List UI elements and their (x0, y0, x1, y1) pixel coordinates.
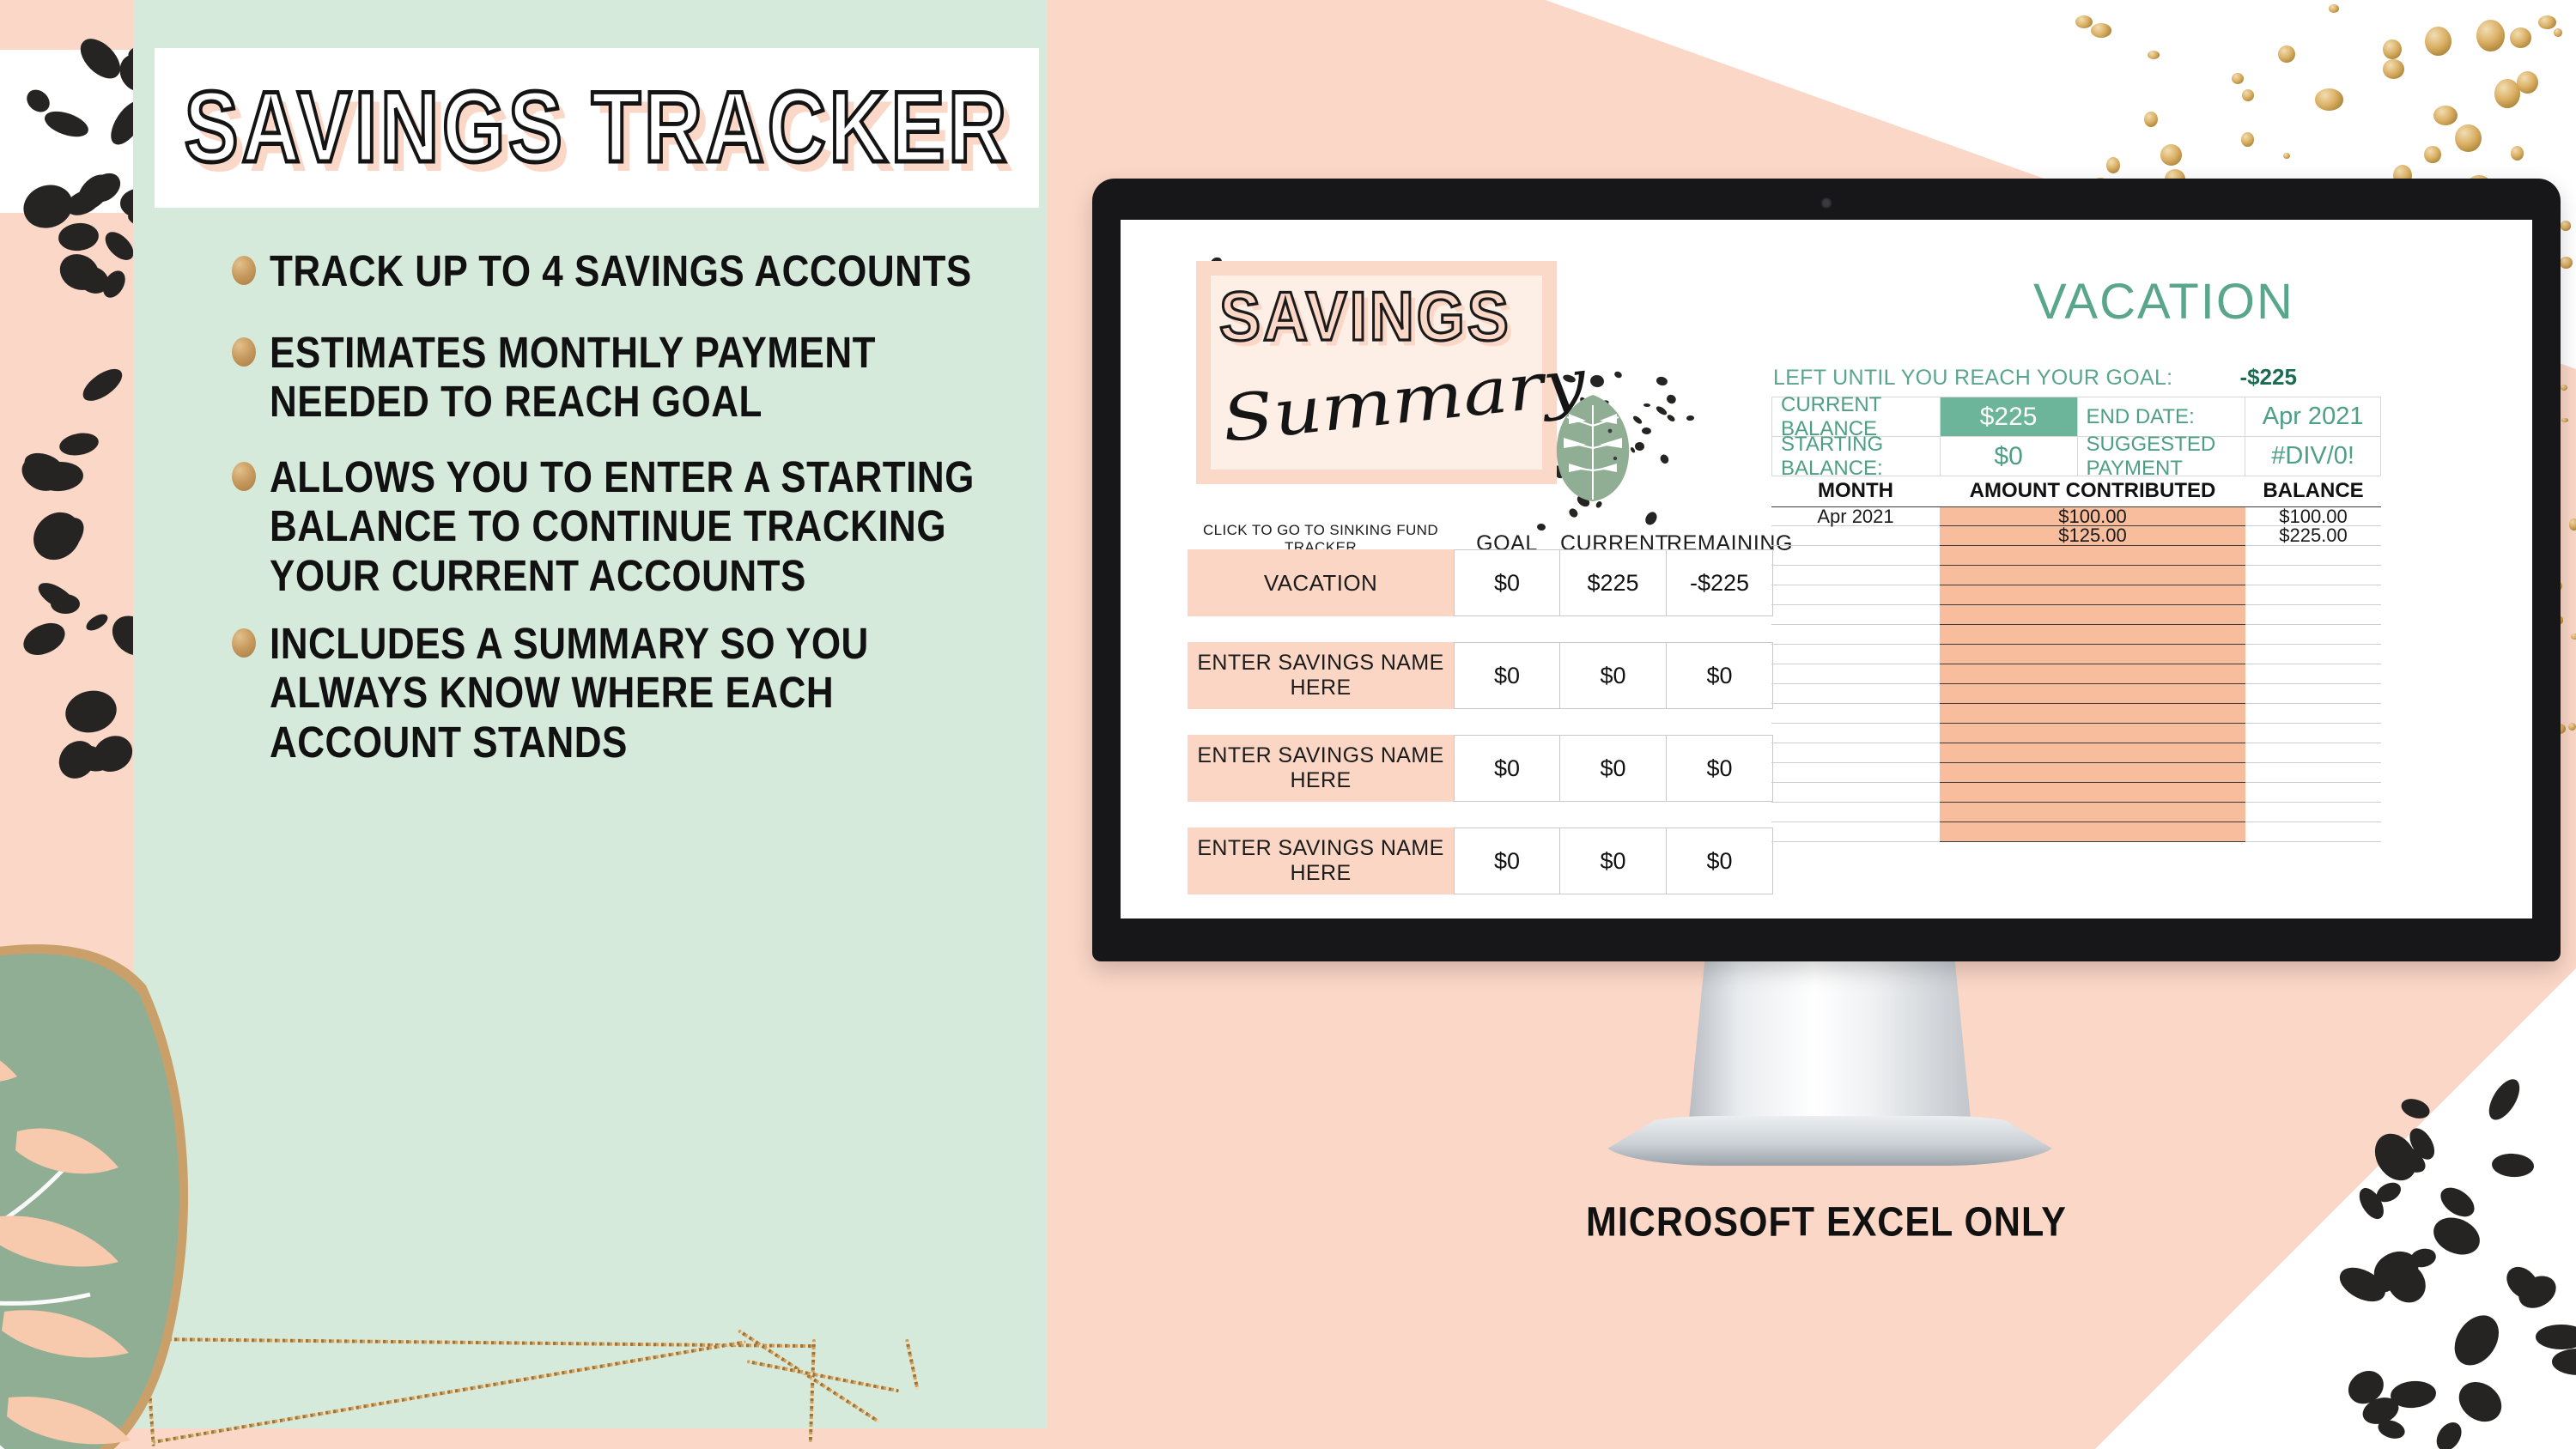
decorative-dot (1656, 376, 1668, 387)
monitor-frame: SAVINGS Summary (1092, 179, 2561, 961)
list-item-label: INCLUDES A SUMMARY SO YOU ALWAYS KNOW WH… (270, 620, 1030, 767)
column-header-month: MONTH (1771, 479, 1940, 503)
decorative-dot (51, 594, 80, 614)
decorative-dot (74, 32, 128, 86)
column-header-balance: BALANCE (2245, 479, 2381, 503)
spreadsheet: SAVINGS Summary (1121, 220, 2532, 919)
cell-balance (2245, 822, 2381, 842)
savings-account-name[interactable]: ENTER SAVINGS NAME HERE (1188, 828, 1454, 894)
decorative-dot (100, 227, 138, 266)
cell-goal[interactable]: $0 (1454, 642, 1560, 709)
cell-month[interactable] (1771, 704, 1940, 724)
cell-balance (2245, 546, 2381, 566)
gold-geometric-line (738, 1329, 880, 1423)
gold-glitter-speck (2476, 20, 2505, 52)
gold-glitter-speck (2561, 418, 2568, 423)
gold-glitter-speck (2278, 45, 2295, 63)
cell-month[interactable] (1771, 625, 1940, 645)
cell-month[interactable] (1771, 645, 1940, 664)
gold-glitter-speck (2569, 518, 2576, 530)
monitor-stand-base (1602, 1116, 2057, 1166)
cell-amount-contributed[interactable] (1940, 803, 2245, 822)
table-row[interactable]: VACATION $0 $225 -$225 (1188, 549, 1780, 616)
dot-pattern-top-left (0, 0, 150, 773)
suggested-payment-value: #DIV/0! (2245, 437, 2381, 476)
gold-glitter-speck (2568, 723, 2576, 731)
starting-balance-label: STARTING BALANCE: (1772, 437, 1941, 476)
table-row: STARTING BALANCE: $0 SUGGESTED PAYMENT #… (1772, 437, 2381, 476)
cell-month[interactable] (1771, 546, 1940, 566)
cell-remaining[interactable]: $0 (1667, 828, 1773, 894)
decorative-dot (1666, 414, 1676, 423)
list-item-label: ESTIMATES MONTHLY PAYMENT NEEDED TO REAC… (270, 329, 1030, 427)
monitor-screen: SAVINGS Summary (1121, 220, 2532, 919)
cell-current[interactable]: $0 (1560, 642, 1667, 709)
goal-remaining-label: LEFT UNTIL YOU REACH YOUR GOAL: (1773, 366, 2172, 391)
gold-glitter-speck (2510, 27, 2531, 48)
savings-account-name[interactable]: VACATION (1188, 549, 1454, 616)
table-row[interactable] (1771, 704, 2381, 724)
suggested-payment-label: SUGGESTED PAYMENT (2078, 437, 2246, 476)
gold-glitter-speck (2329, 4, 2339, 13)
cell-balance (2245, 605, 2381, 625)
gold-glitter-speck (2232, 73, 2244, 84)
end-date-label: END DATE: (2078, 397, 2246, 437)
cell-month[interactable] (1771, 743, 1940, 763)
decorative-dot (2390, 1379, 2437, 1409)
gold-glitter-speck (2554, 28, 2562, 37)
cell-balance (2245, 684, 2381, 704)
table-row[interactable]: ENTER SAVINGS NAME HERE $0 $0 $0 (1188, 828, 1780, 894)
cell-balance (2245, 625, 2381, 645)
table-row: CURRENT BALANCE $225 END DATE: Apr 2021 (1772, 397, 2381, 437)
platform-note: MICROSOFT EXCEL ONLY (1092, 1199, 2561, 1246)
gold-glitter-speck (2433, 106, 2458, 125)
table-row[interactable] (1771, 803, 2381, 822)
decorative-dot (1643, 403, 1649, 408)
goal-remaining-row: LEFT UNTIL YOU REACH YOUR GOAL: -$225 (1773, 364, 2374, 391)
cell-balance (2245, 704, 2381, 724)
gold-glitter-speck (2571, 634, 2576, 640)
gold-geometric-lines (146, 1284, 902, 1439)
savings-account-name[interactable]: ENTER SAVINGS NAME HERE (1188, 642, 1454, 709)
cell-month[interactable] (1771, 605, 1940, 625)
cell-amount-contributed[interactable] (1940, 783, 2245, 803)
gold-glitter-speck (2283, 153, 2290, 159)
monstera-leaf-large (0, 934, 258, 1449)
cell-amount-contributed[interactable] (1940, 645, 2245, 664)
cell-month[interactable]: Apr 2021 (1771, 506, 1940, 526)
gold-geometric-line (809, 1339, 816, 1442)
cell-current[interactable]: $225 (1560, 549, 1667, 616)
gold-glitter-speck (2106, 157, 2120, 173)
table-row[interactable] (1771, 664, 2381, 684)
cell-balance (2245, 645, 2381, 664)
cell-current[interactable]: $0 (1560, 828, 1667, 894)
decorative-dot (1686, 415, 1695, 420)
cell-balance (2245, 664, 2381, 684)
cell-balance (2245, 743, 2381, 763)
cell-balance (2245, 724, 2381, 743)
monstera-leaf-small-icon (1548, 391, 1638, 503)
decorative-dot (84, 610, 111, 634)
cell-amount-contributed[interactable] (1940, 605, 2245, 625)
cell-amount-contributed[interactable] (1940, 684, 2245, 704)
cell-goal[interactable]: $0 (1454, 549, 1560, 616)
starting-balance-value[interactable]: $0 (1941, 437, 2078, 476)
slide-canvas: SAVINGS TRACKER TRACK UP TO 4 SAVINGS AC… (0, 0, 2576, 1449)
gold-glitter-speck (2091, 23, 2111, 38)
gold-glitter-speck (2148, 51, 2160, 59)
goal-remaining-value: -$225 (2239, 364, 2297, 391)
table-row[interactable] (1771, 645, 2381, 664)
table-row[interactable] (1771, 763, 2381, 783)
vacation-panel-title: VACATION (1898, 273, 2430, 330)
list-item-label: TRACK UP TO 4 SAVINGS ACCOUNTS (270, 247, 972, 296)
gold-glitter-speck (2561, 221, 2572, 230)
gold-glitter-speck (2075, 15, 2093, 28)
list-item-label: ALLOWS YOU TO ENTER A STARTING BALANCE T… (270, 453, 1030, 600)
current-balance-value[interactable]: $225 (1941, 397, 2078, 437)
decorative-dot (1642, 427, 1651, 433)
end-date-value[interactable]: Apr 2021 (2245, 397, 2381, 437)
vacation-summary-grid: CURRENT BALANCE $225 END DATE: Apr 2021 … (1771, 397, 2381, 476)
decorative-dot (1665, 393, 1677, 405)
gold-glitter-speck (2425, 27, 2451, 56)
current-balance-label: CURRENT BALANCE (1772, 397, 1941, 437)
list-item: ESTIMATES MONTHLY PAYMENT NEEDED TO REAC… (232, 329, 1030, 414)
decorative-dot (77, 363, 127, 407)
list-item: TRACK UP TO 4 SAVINGS ACCOUNTS (232, 247, 1030, 289)
decorative-dot (2491, 1153, 2534, 1179)
table-row[interactable] (1771, 743, 2381, 763)
table-row[interactable] (1771, 822, 2381, 842)
decorative-dot (2398, 1095, 2432, 1122)
webcam-icon (1821, 197, 1832, 209)
column-header-amount-contributed: AMOUNT CONTRIBUTED (1940, 479, 2245, 503)
decorative-dot (2552, 1349, 2576, 1376)
gold-glitter-speck (2455, 124, 2481, 152)
cell-amount-contributed[interactable] (1940, 743, 2245, 763)
cell-month[interactable] (1771, 763, 1940, 783)
cell-month[interactable] (1771, 684, 1940, 704)
cell-balance (2245, 783, 2381, 803)
cell-month[interactable] (1771, 566, 1940, 585)
cell-goal[interactable]: $0 (1454, 735, 1560, 802)
dot-pattern-bottom-right (2301, 1088, 2576, 1449)
gold-glitter-speck (2561, 385, 2567, 391)
cell-amount-contributed[interactable]: $125.00 (1940, 526, 2245, 546)
cell-balance (2245, 585, 2381, 605)
cell-month[interactable] (1771, 526, 1940, 546)
table-row[interactable] (1771, 605, 2381, 625)
cell-amount-contributed[interactable]: $100.00 (1940, 506, 2245, 526)
table-row[interactable] (1771, 566, 2381, 585)
feature-bullet-list: TRACK UP TO 4 SAVINGS ACCOUNTS ESTIMATES… (232, 247, 1030, 785)
page-title: SAVINGS TRACKER (184, 70, 1009, 185)
gold-glitter-speck (2424, 146, 2441, 164)
cell-month[interactable] (1771, 724, 1940, 743)
decorative-dot (1613, 370, 1623, 379)
cell-goal[interactable]: $0 (1454, 828, 1560, 894)
table-row[interactable]: Apr 2021$100.00$100.00 (1771, 506, 2381, 526)
table-row[interactable] (1771, 546, 2381, 566)
cell-amount-contributed[interactable] (1940, 625, 2245, 645)
gold-bullet-icon (232, 337, 256, 367)
cell-remaining[interactable]: -$225 (1667, 549, 1773, 616)
cell-amount-contributed[interactable] (1940, 724, 2245, 743)
list-item: ALLOWS YOU TO ENTER A STARTING BALANCE T… (232, 453, 1030, 580)
decorative-dot (2451, 1373, 2509, 1429)
gold-glitter-speck (2560, 257, 2573, 269)
gold-bullet-icon (232, 462, 256, 491)
decorative-dot (2445, 1307, 2507, 1373)
cell-balance: $225.00 (2245, 526, 2381, 546)
table-row[interactable] (1771, 684, 2381, 704)
title-card: SAVINGS TRACKER (155, 48, 1039, 208)
gold-glitter-speck (2383, 59, 2404, 79)
logo-word-savings: SAVINGS (1219, 277, 1511, 356)
cell-remaining[interactable]: $0 (1667, 642, 1773, 709)
cell-month[interactable] (1771, 585, 1940, 605)
cell-amount-contributed[interactable] (1940, 704, 2245, 724)
gold-bullet-icon (232, 256, 256, 285)
cell-amount-contributed[interactable] (1940, 763, 2245, 783)
gold-glitter-speck (2538, 15, 2556, 29)
gold-glitter-speck (2511, 146, 2524, 161)
contributions-table-body: Apr 2021$100.00$100.00$125.00$225.00 (1771, 506, 2381, 842)
cell-balance (2245, 763, 2381, 783)
table-row[interactable] (1771, 625, 2381, 645)
table-row[interactable]: ENTER SAVINGS NAME HERE $0 $0 $0 (1188, 642, 1780, 709)
table-row[interactable]: $125.00$225.00 (1771, 526, 2381, 546)
cell-month[interactable] (1771, 803, 1940, 822)
cell-remaining[interactable]: $0 (1667, 735, 1773, 802)
decorative-dot (61, 686, 120, 737)
cell-amount-contributed[interactable] (1940, 585, 2245, 605)
gold-glitter-speck (2517, 71, 2538, 94)
decorative-dot (58, 430, 100, 458)
cell-balance (2245, 566, 2381, 585)
decorative-dot (18, 617, 70, 662)
table-row[interactable] (1771, 585, 2381, 605)
decorative-dot (1589, 374, 1605, 389)
cell-amount-contributed[interactable] (1940, 664, 2245, 684)
contributions-table-header: MONTH AMOUNT CONTRIBUTED BALANCE (1771, 479, 2381, 503)
decorative-dot (2432, 1417, 2467, 1449)
table-row[interactable]: ENTER SAVINGS NAME HERE $0 $0 $0 (1188, 735, 1780, 802)
cell-month[interactable] (1771, 822, 1940, 842)
decorative-dot (58, 221, 100, 252)
table-row[interactable] (1771, 783, 2381, 803)
cell-current[interactable]: $0 (1560, 735, 1667, 802)
cell-amount-contributed[interactable] (1940, 566, 2245, 585)
cell-amount-contributed[interactable] (1940, 822, 2245, 842)
gold-glitter-speck (2160, 144, 2182, 166)
gold-glitter-speck (2242, 89, 2254, 101)
list-item: INCLUDES A SUMMARY SO YOU ALWAYS KNOW WH… (232, 620, 1030, 747)
cell-month[interactable] (1771, 783, 1940, 803)
decorative-dot (2536, 1325, 2576, 1349)
decorative-dot (1658, 453, 1669, 465)
gold-bullet-icon (232, 628, 256, 658)
gold-glitter-speck (2144, 112, 2158, 127)
gold-glitter-top-right (2061, 0, 2576, 197)
cell-balance (2245, 803, 2381, 822)
decorative-dot (41, 106, 91, 141)
savings-account-name[interactable]: ENTER SAVINGS NAME HERE (1188, 735, 1454, 802)
gold-glitter-speck (2241, 132, 2254, 147)
cell-balance: $100.00 (2245, 506, 2381, 526)
monitor-stand-neck (1688, 956, 1971, 1128)
cell-amount-contributed[interactable] (1940, 546, 2245, 566)
gold-glitter-speck (2315, 88, 2344, 111)
gold-glitter-speck (2383, 39, 2402, 60)
table-row[interactable] (1771, 724, 2381, 743)
decorative-dot (1568, 507, 1580, 519)
cell-month[interactable] (1771, 664, 1940, 684)
